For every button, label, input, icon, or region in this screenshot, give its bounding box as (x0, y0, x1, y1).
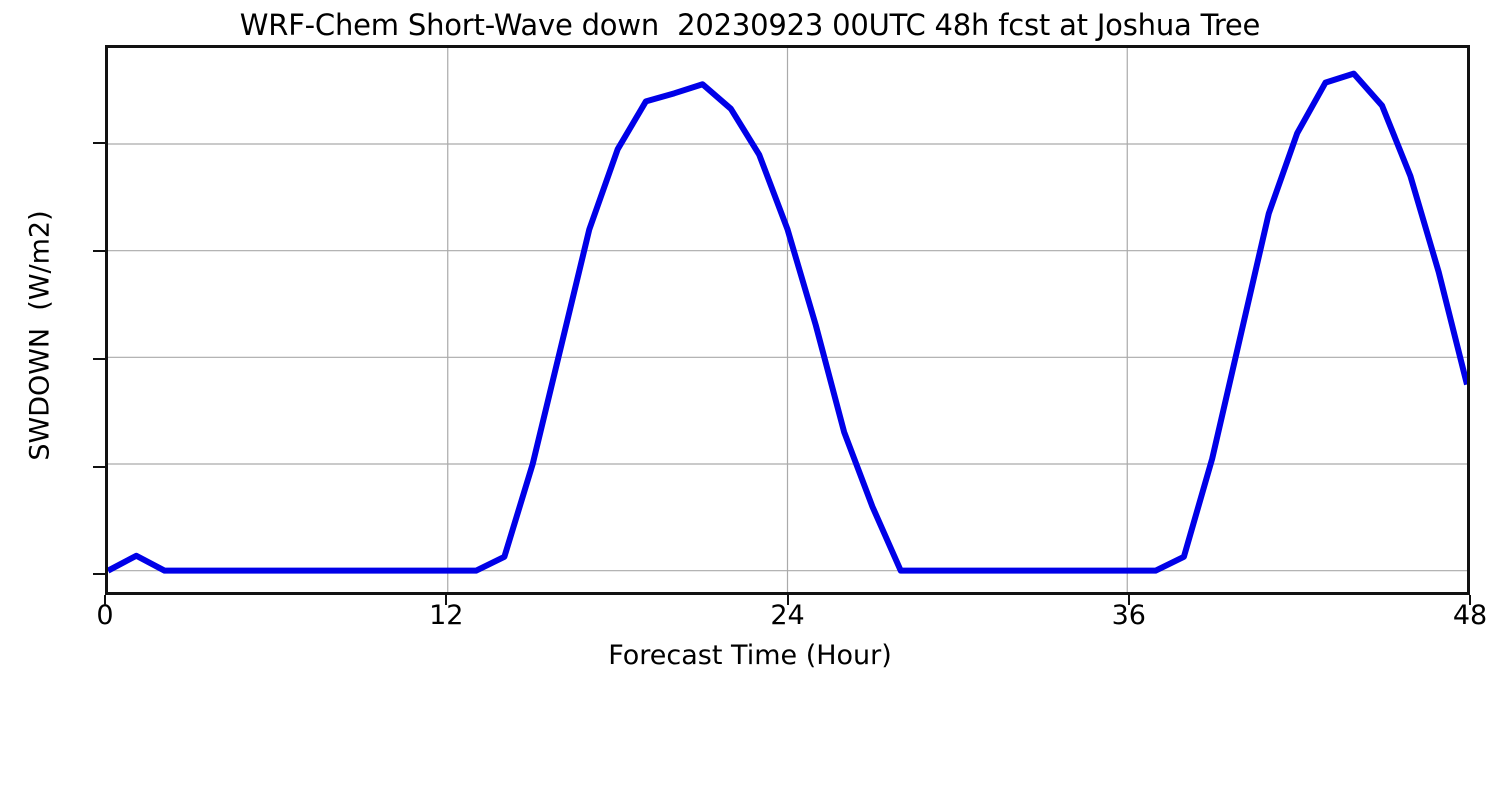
y-tick-mark (93, 142, 105, 144)
y-axis-label: SWDOWN (W/m2) (25, 0, 56, 686)
chart-figure: WRF-Chem Short-Wave down 20230923 00UTC … (0, 0, 1500, 800)
y-tick-mark (93, 573, 105, 575)
y-tick-mark (93, 466, 105, 468)
x-axis-label: Forecast Time (Hour) (0, 640, 1500, 671)
gridlines (108, 48, 1467, 592)
x-tick-mark (445, 595, 447, 605)
x-tick-mark (104, 595, 106, 605)
y-tick-mark (93, 250, 105, 252)
chart-title: WRF-Chem Short-Wave down 20230923 00UTC … (0, 8, 1500, 42)
x-tick-mark (1469, 595, 1471, 605)
x-tick-mark (787, 595, 789, 605)
x-tick-mark (1128, 595, 1130, 605)
y-tick-mark (93, 358, 105, 360)
plot-area (105, 45, 1470, 595)
plot-svg (108, 48, 1467, 592)
